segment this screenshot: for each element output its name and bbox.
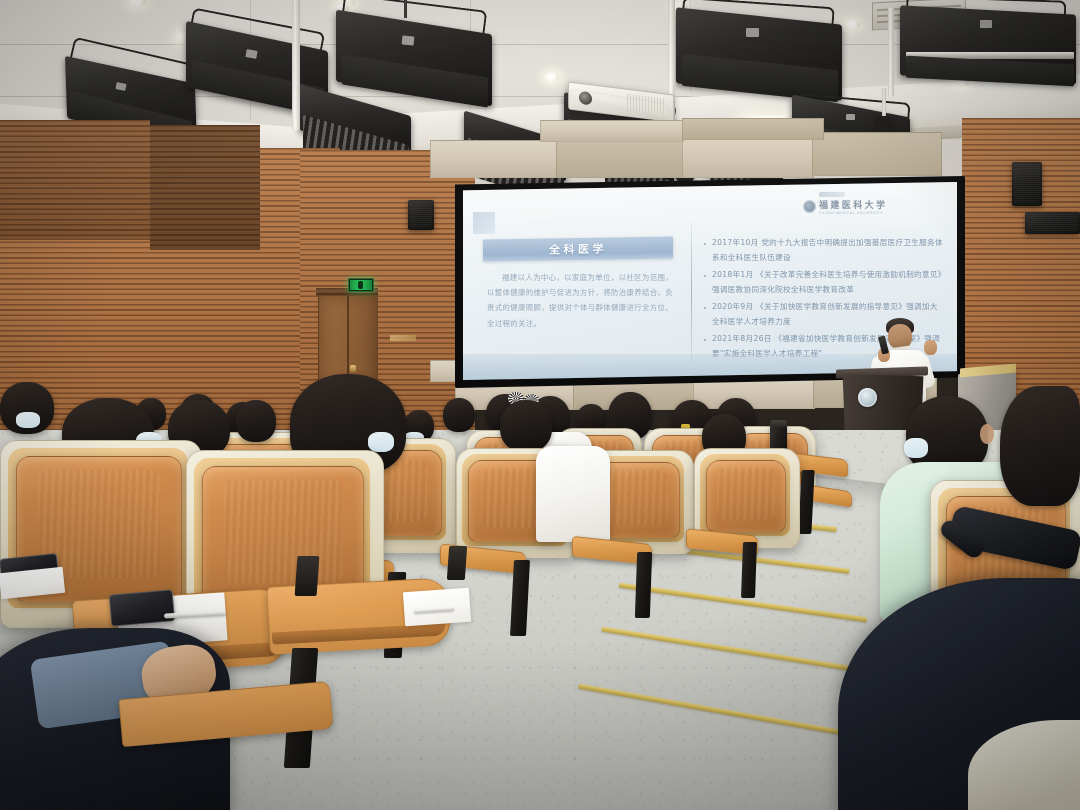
presenter-hand-right <box>924 340 937 355</box>
logo-flourish <box>819 192 845 197</box>
university-name-en: FUJIAN MEDICAL UNIVERSITY <box>819 211 887 215</box>
ear <box>980 424 994 444</box>
wall-speaker <box>1012 162 1042 206</box>
acoustic-wall-panel <box>556 138 684 178</box>
university-name-cn: 福建医科大学 <box>819 198 887 211</box>
slide-bullet-item: 2017年10月 党的十九大报告中明确提出加强基层医疗卫生服务体系和全科医生队伍… <box>703 236 943 266</box>
acoustic-wall-panel <box>540 120 684 142</box>
acoustic-wall-panel <box>682 118 824 140</box>
university-crest-icon <box>803 200 816 213</box>
thermos-cap <box>770 420 787 427</box>
wood-slat-wall <box>0 120 150 240</box>
acoustic-wall-panel <box>682 136 814 178</box>
seat-hinge <box>295 556 320 596</box>
audience-torso <box>536 446 610 542</box>
slide-section-title-text: 全科医学 <box>549 241 607 258</box>
wall-sign <box>390 335 416 341</box>
seat-leg <box>741 542 757 598</box>
audience-head <box>500 400 552 452</box>
acoustic-wall-panel <box>812 132 942 176</box>
slide-corner-accent <box>473 212 495 234</box>
university-logo: 福建医科大学 FUJIAN MEDICAL UNIVERSITY <box>803 198 887 215</box>
slide-left-paragraph: 福建以人为中心，以家庭为单位，以社区为范围，以整体健康的维护与促进为方针，将防治… <box>487 270 673 331</box>
stage-spotlight <box>898 0 1080 110</box>
face-mask <box>904 438 928 458</box>
audience-head <box>1000 386 1080 506</box>
slide-section-title: 全科医学 <box>483 237 673 262</box>
audience-head <box>236 400 276 442</box>
podium-emblem-icon <box>858 388 877 407</box>
projector-mount-pole <box>292 0 300 130</box>
smartphone[interactable] <box>109 589 176 626</box>
wall-speaker <box>408 200 434 230</box>
slide-bullet-item: 2018年1月 《关于改革完善全科医生培养与使用激励机制的意见》强调医教协同深化… <box>703 268 943 298</box>
audience-head <box>443 398 475 432</box>
wood-slat-wall <box>150 125 260 250</box>
face-mask <box>368 432 394 452</box>
slide-divider <box>691 222 692 362</box>
wall-speaker <box>1025 212 1080 234</box>
lecture-hall-photo: 福建医科大学 FUJIAN MEDICAL UNIVERSITY 全科医学 福建… <box>0 0 1080 810</box>
seat-leg <box>635 552 652 618</box>
projector-mount-pole <box>888 8 894 96</box>
exit-sign-icon <box>348 278 374 292</box>
seat-hinge <box>447 546 467 580</box>
acoustic-wall-panel <box>430 140 558 178</box>
ceiling-downlight <box>545 73 559 82</box>
face-mask <box>16 412 40 428</box>
